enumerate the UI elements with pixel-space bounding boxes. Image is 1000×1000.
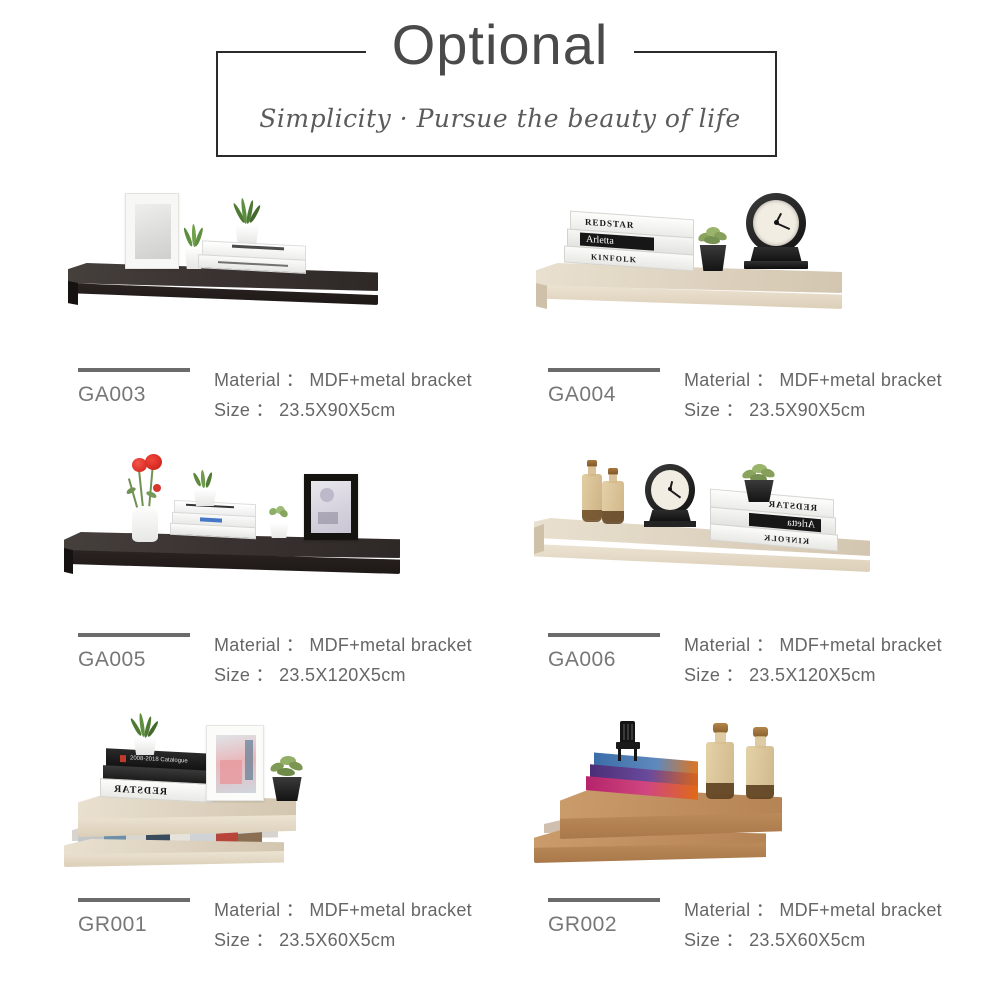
product-specs: Material ： MDF+metal bracket Size ： 23.5… xyxy=(214,895,472,955)
corked-glass-bottle-left xyxy=(706,723,734,799)
product-card-gr002[interactable]: GR002 Material ： MDF+metal bracket Size … xyxy=(530,705,1000,970)
white-photo-frame xyxy=(125,193,179,269)
product-caption: GR001 Material ： MDF+metal bracket Size … xyxy=(78,895,530,957)
product-code: GA006 xyxy=(548,648,698,672)
product-specs: Material ： MDF+metal bracket Size ： 23.5… xyxy=(684,365,942,425)
product-row: GA003 Material ： MDF+metal bracket Size … xyxy=(0,175,1000,440)
black-mantel-clock xyxy=(642,464,698,528)
material-line: Material ： MDF+metal bracket xyxy=(214,630,472,660)
corked-glass-bottle-right xyxy=(746,727,774,799)
succulent-white-pot xyxy=(234,202,260,246)
book-title: REDSTAR xyxy=(585,217,634,230)
product-row: 2008-2018 Catalogue REDSTAR xyxy=(0,705,1000,970)
product-card-ga005[interactable]: GA005 Material ： MDF+metal bracket Size … xyxy=(60,440,530,705)
product-code-block: GR002 xyxy=(548,895,698,937)
product-row: GA005 Material ： MDF+metal bracket Size … xyxy=(0,440,1000,705)
white-book-stack xyxy=(170,502,256,538)
size-line: Size ： 23.5X90X5cm xyxy=(214,395,472,425)
black-mantel-clock xyxy=(742,193,810,271)
size-line: Size ： 23.5X90X5cm xyxy=(684,395,942,425)
product-code: GA004 xyxy=(548,383,698,407)
caption-rule xyxy=(78,898,190,902)
small-plant-white-pot xyxy=(268,508,290,538)
succulent-black-pot xyxy=(698,223,728,271)
succulent-white-pot xyxy=(132,717,158,755)
product-specs: Material ： MDF+metal bracket Size ： 23.5… xyxy=(214,630,472,690)
product-photo-gr001: 2008-2018 Catalogue REDSTAR xyxy=(60,705,500,890)
product-specs: Material ： MDF+metal bracket Size ： 23.5… xyxy=(684,630,942,690)
product-specs: Material ： MDF+metal bracket Size ： 23.5… xyxy=(684,895,942,955)
white-vase-red-poppies xyxy=(120,448,168,538)
size-line: Size ： 23.5X120X5cm xyxy=(684,660,942,690)
caption-rule xyxy=(78,633,190,637)
book-title: KINFOLK xyxy=(591,252,637,264)
succulent-black-pot xyxy=(742,462,776,502)
product-caption: GR002 Material ： MDF+metal bracket Size … xyxy=(548,895,1000,957)
mini-black-chair xyxy=(616,721,642,763)
product-code-block: GA005 xyxy=(78,630,228,672)
book-title: Arletta xyxy=(586,234,614,247)
material-line: Material ： MDF+metal bracket xyxy=(214,895,472,925)
product-photo-ga003 xyxy=(60,175,500,360)
product-code-block: GA003 xyxy=(78,365,228,407)
poppy-bloom xyxy=(145,454,162,470)
product-photo-ga005 xyxy=(60,440,500,625)
book-stack: REDSTAR Arletta KINFOLK xyxy=(564,215,694,269)
product-code-block: GR001 xyxy=(78,895,228,937)
succulent-white-pot xyxy=(192,472,218,506)
material-line: Material ： MDF+metal bracket xyxy=(214,365,472,395)
product-card-ga006[interactable]: REDSTAR Arletta KINFOLK xyxy=(530,440,1000,705)
size-line: Size ： 23.5X60X5cm xyxy=(684,925,942,955)
book-title: KINFOLK xyxy=(763,533,809,546)
amber-bottle-short xyxy=(602,468,624,524)
product-photo-gr002 xyxy=(530,705,970,890)
product-photo-ga006: REDSTAR Arletta KINFOLK xyxy=(530,440,970,625)
white-photo-frame xyxy=(206,725,264,801)
caption-rule xyxy=(548,898,660,902)
product-code: GR001 xyxy=(78,913,228,937)
product-caption: GA005 Material ： MDF+metal bracket Size … xyxy=(78,630,530,692)
product-specs: Material ： MDF+metal bracket Size ： 23.5… xyxy=(214,365,472,425)
book-title: 2008-2018 Catalogue xyxy=(130,755,188,764)
product-code-block: GA004 xyxy=(548,365,698,407)
page-title: Optional xyxy=(0,14,1000,76)
succulent-black-pot xyxy=(270,755,304,801)
product-code: GA005 xyxy=(78,648,228,672)
page-subtitle: Simplicity · Pursue the beauty of life xyxy=(0,104,1000,133)
material-line: Material ： MDF+metal bracket xyxy=(684,895,942,925)
caption-rule xyxy=(78,368,190,372)
product-code: GA003 xyxy=(78,383,228,407)
size-line: Size ： 23.5X60X5cm xyxy=(214,925,472,955)
product-caption: GA004 Material ： MDF+metal bracket Size … xyxy=(548,365,1000,427)
black-photo-frame xyxy=(304,474,358,540)
book-title: Arletta xyxy=(787,517,815,530)
product-card-gr001[interactable]: 2008-2018 Catalogue REDSTAR xyxy=(60,705,530,970)
product-grid: GA003 Material ： MDF+metal bracket Size … xyxy=(0,175,1000,970)
product-caption: GA003 Material ： MDF+metal bracket Size … xyxy=(78,365,530,427)
amber-bottle-tall xyxy=(582,460,602,522)
material-line: Material ： MDF+metal bracket xyxy=(684,630,942,660)
product-card-ga004[interactable]: REDSTAR Arletta KINFOLK xyxy=(530,175,1000,440)
colorful-book-stack xyxy=(586,757,698,799)
poppy-bud xyxy=(153,484,161,492)
product-catalog-page: Optional Simplicity · Pursue the beauty … xyxy=(0,0,1000,1000)
size-line: Size ： 23.5X120X5cm xyxy=(214,660,472,690)
product-code: GR002 xyxy=(548,913,698,937)
white-book-stack xyxy=(198,243,306,273)
book-stack-mirrored: REDSTAR Arletta KINFOLK xyxy=(710,494,838,548)
book-title: REDSTAR xyxy=(113,784,167,798)
product-card-ga003[interactable]: GA003 Material ： MDF+metal bracket Size … xyxy=(60,175,530,440)
material-line: Material ： MDF+metal bracket xyxy=(684,365,942,395)
product-photo-ga004: REDSTAR Arletta KINFOLK xyxy=(530,175,970,360)
product-caption: GA006 Material ： MDF+metal bracket Size … xyxy=(548,630,1000,692)
caption-rule xyxy=(548,368,660,372)
product-code-block: GA006 xyxy=(548,630,698,672)
caption-rule xyxy=(548,633,660,637)
book-stack: 2008-2018 Catalogue REDSTAR xyxy=(100,751,212,801)
